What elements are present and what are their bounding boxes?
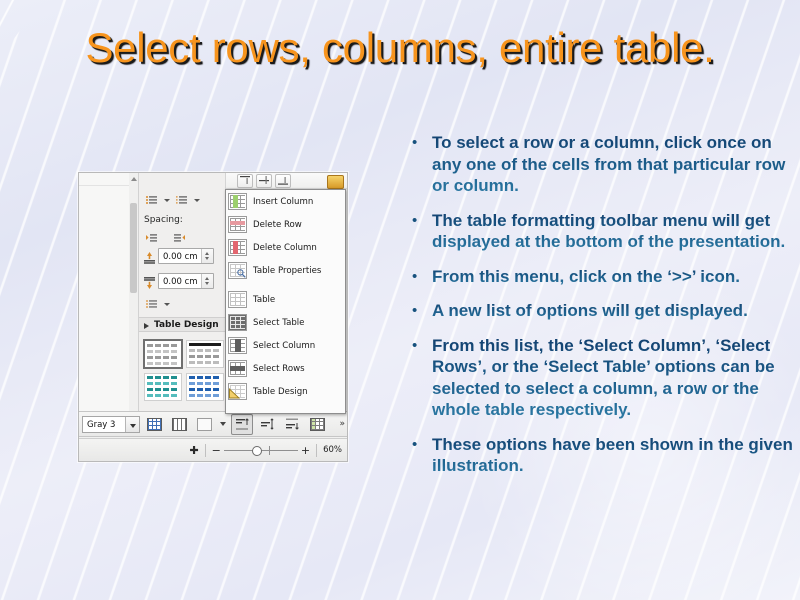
bullet-text: From this list, the ‘Select Column’, ‘Se…: [432, 335, 796, 421]
line-spacing-row: [143, 297, 170, 311]
spacing-above-value: 0.00 cm: [163, 252, 198, 262]
chevron-down-icon[interactable]: [164, 199, 170, 202]
area-style-button[interactable]: [193, 414, 215, 435]
table-style-thumbnail[interactable]: [186, 340, 224, 368]
table-style-combo[interactable]: Gray 3: [82, 416, 140, 433]
menu-item-select-column[interactable]: Select Column: [226, 334, 345, 357]
illustration-screenshot: Spacing: 0.00 cm 0.00 cm: [78, 172, 348, 462]
spacing-label: Spacing:: [144, 215, 183, 225]
chevron-down-icon: [130, 424, 136, 428]
zoom-out-button[interactable]: −: [212, 444, 221, 457]
list-item: • To select a row or a column, click onc…: [404, 132, 796, 197]
zoom-knob[interactable]: [252, 446, 262, 456]
list-item: • A new list of options will get display…: [404, 300, 796, 322]
select-rows-icon: [228, 360, 247, 377]
chevron-down-icon: [220, 422, 226, 426]
stepper-down-icon[interactable]: [205, 257, 209, 260]
canvas-ruler-line: [79, 185, 129, 186]
list-item: • From this menu, click on the ‘>>’ icon…: [404, 266, 796, 288]
table-style-thumbnail[interactable]: [144, 340, 182, 368]
status-separator: [205, 444, 206, 457]
align-top-icon: [235, 418, 249, 430]
status-separator: [316, 444, 317, 457]
table-icon: [228, 291, 247, 308]
menu-item-select-table[interactable]: Select Table: [226, 311, 345, 334]
align-top-button[interactable]: [231, 414, 253, 435]
delete-column-icon: [228, 239, 247, 256]
table-style-value: Gray 3: [87, 420, 115, 430]
insert-column-icon: [228, 193, 247, 210]
border-style-button[interactable]: [168, 414, 190, 435]
zoom-midpoint-tick: [269, 446, 270, 455]
select-table-icon: [228, 314, 247, 331]
menu-item-label: Table: [253, 295, 275, 305]
bullet-text: To select a row or a column, click once …: [432, 132, 796, 197]
bullet-marker: •: [404, 434, 432, 455]
menu-item-label: Delete Column: [253, 243, 317, 253]
list-item: • These options have been shown in the g…: [404, 434, 796, 477]
bullet-text: The table formatting toolbar menu will g…: [432, 210, 796, 253]
indent-buttons-row: [143, 231, 188, 245]
menu-item-table[interactable]: Table: [226, 288, 345, 311]
table-style-thumbnail[interactable]: [186, 373, 224, 401]
spacing-below-input[interactable]: 0.00 cm: [158, 273, 214, 289]
table-design-icon: [228, 383, 247, 400]
align-bottom-button[interactable]: [281, 414, 303, 435]
menu-item-insert-column[interactable]: Insert Column: [226, 190, 345, 213]
menu-item-table-properties[interactable]: Table Properties: [226, 259, 345, 282]
menu-item-label: Select Rows: [253, 364, 305, 374]
align-bottom-icon: [285, 418, 299, 430]
spacing-above-icon: [144, 249, 155, 261]
sidebar-paragraph-panel: Spacing: 0.00 cm 0.00 cm: [139, 173, 226, 421]
list-item: • The table formatting toolbar menu will…: [404, 210, 796, 253]
presentation-slide: Select rows, columns, entire table. • To…: [0, 0, 800, 600]
bullet-text: These options have been shown in the giv…: [432, 434, 796, 477]
align-center-button[interactable]: [256, 414, 278, 435]
spacing-below-stepper[interactable]: [201, 274, 213, 288]
highlight-color-icon[interactable]: [327, 175, 344, 189]
spacing-above-input[interactable]: 0.00 cm: [158, 248, 214, 264]
table-toolbar: Gray 3: [79, 411, 347, 437]
align-center-icon: [260, 418, 274, 430]
bullet-marker: •: [404, 335, 432, 356]
canvas-vertical-scrollbar[interactable]: [129, 173, 139, 421]
optimize-button[interactable]: [306, 414, 328, 435]
stepper-up-icon[interactable]: [205, 277, 209, 280]
stepper-up-icon[interactable]: [205, 252, 209, 255]
fit-slide-icon[interactable]: ✚: [189, 445, 198, 456]
menu-item-delete-column[interactable]: Delete Column: [226, 236, 345, 259]
unordered-list-icon[interactable]: [143, 193, 160, 207]
vertical-align-center-icon[interactable]: [256, 174, 272, 188]
zoom-track[interactable]: [224, 450, 298, 451]
menu-item-label: Table Design: [253, 387, 308, 397]
table-properties-icon: [228, 262, 247, 279]
list-item: • From this list, the ‘Select Column’, ‘…: [404, 335, 796, 421]
menu-item-label: Delete Row: [253, 220, 302, 230]
menu-item-label: Insert Column: [253, 197, 313, 207]
scroll-up-icon[interactable]: [131, 177, 137, 181]
table-context-menu: Insert Column Delete Row Delete Column: [225, 189, 346, 414]
increase-indent-icon[interactable]: [143, 231, 160, 245]
line-spacing-icon[interactable]: [143, 297, 160, 311]
spacing-above-stepper[interactable]: [201, 249, 213, 263]
zoom-in-button[interactable]: +: [301, 444, 310, 457]
spacing-below-value: 0.00 cm: [163, 277, 198, 287]
menu-item-label: Select Table: [253, 318, 304, 328]
chevron-down-icon[interactable]: [164, 303, 170, 306]
bullet-marker: •: [404, 300, 432, 321]
toolbar-expand-button[interactable]: »: [339, 419, 344, 429]
table-design-section-label: Table Design: [154, 320, 219, 330]
borders-button[interactable]: [143, 414, 165, 435]
bullet-list: • To select a row or a column, click onc…: [404, 132, 796, 490]
area-style-icon: [197, 418, 212, 431]
combo-dropdown-button[interactable]: [125, 417, 139, 432]
vertical-align-bottom-icon[interactable]: [275, 174, 291, 188]
scrollbar-thumb[interactable]: [130, 203, 137, 293]
zoom-level-value[interactable]: 60%: [323, 445, 342, 455]
decrease-indent-icon[interactable]: [171, 231, 188, 245]
chevron-down-icon[interactable]: [194, 199, 200, 202]
bullet-marker: •: [404, 266, 432, 287]
bullet-marker: •: [404, 210, 432, 231]
border-style-icon: [172, 418, 187, 431]
list-buttons-row: [143, 193, 200, 207]
table-style-thumbnail[interactable]: [144, 373, 182, 401]
menu-item-label: Table Properties: [253, 266, 321, 276]
ordered-list-icon[interactable]: [173, 193, 190, 207]
delete-row-icon: [228, 216, 247, 233]
menu-item-select-rows[interactable]: Select Rows: [226, 357, 345, 380]
vertical-align-top-icon[interactable]: [237, 174, 253, 188]
zoom-slider[interactable]: − +: [212, 444, 310, 457]
expand-triangle-icon[interactable]: [144, 323, 149, 329]
menu-item-label: Select Column: [253, 341, 315, 351]
bullet-text: A new list of options will get displayed…: [432, 300, 796, 322]
page-title: Select rows, columns, entire table.: [40, 22, 760, 74]
area-style-dropdown[interactable]: [218, 414, 228, 435]
menu-item-delete-row[interactable]: Delete Row: [226, 213, 345, 236]
table-design-section-header[interactable]: Table Design: [139, 317, 225, 332]
stepper-down-icon[interactable]: [205, 282, 209, 285]
spacing-below-icon: [144, 274, 155, 286]
bullet-marker: •: [404, 132, 432, 153]
borders-icon: [147, 418, 162, 431]
slide-canvas-area: [79, 173, 130, 421]
menu-item-table-design[interactable]: Table Design: [226, 380, 345, 403]
select-column-icon: [228, 337, 247, 354]
optimize-icon: [310, 418, 325, 431]
bullet-text: From this menu, click on the ‘>>’ icon.: [432, 266, 796, 288]
status-bar: ✚ − + 60%: [79, 438, 347, 461]
